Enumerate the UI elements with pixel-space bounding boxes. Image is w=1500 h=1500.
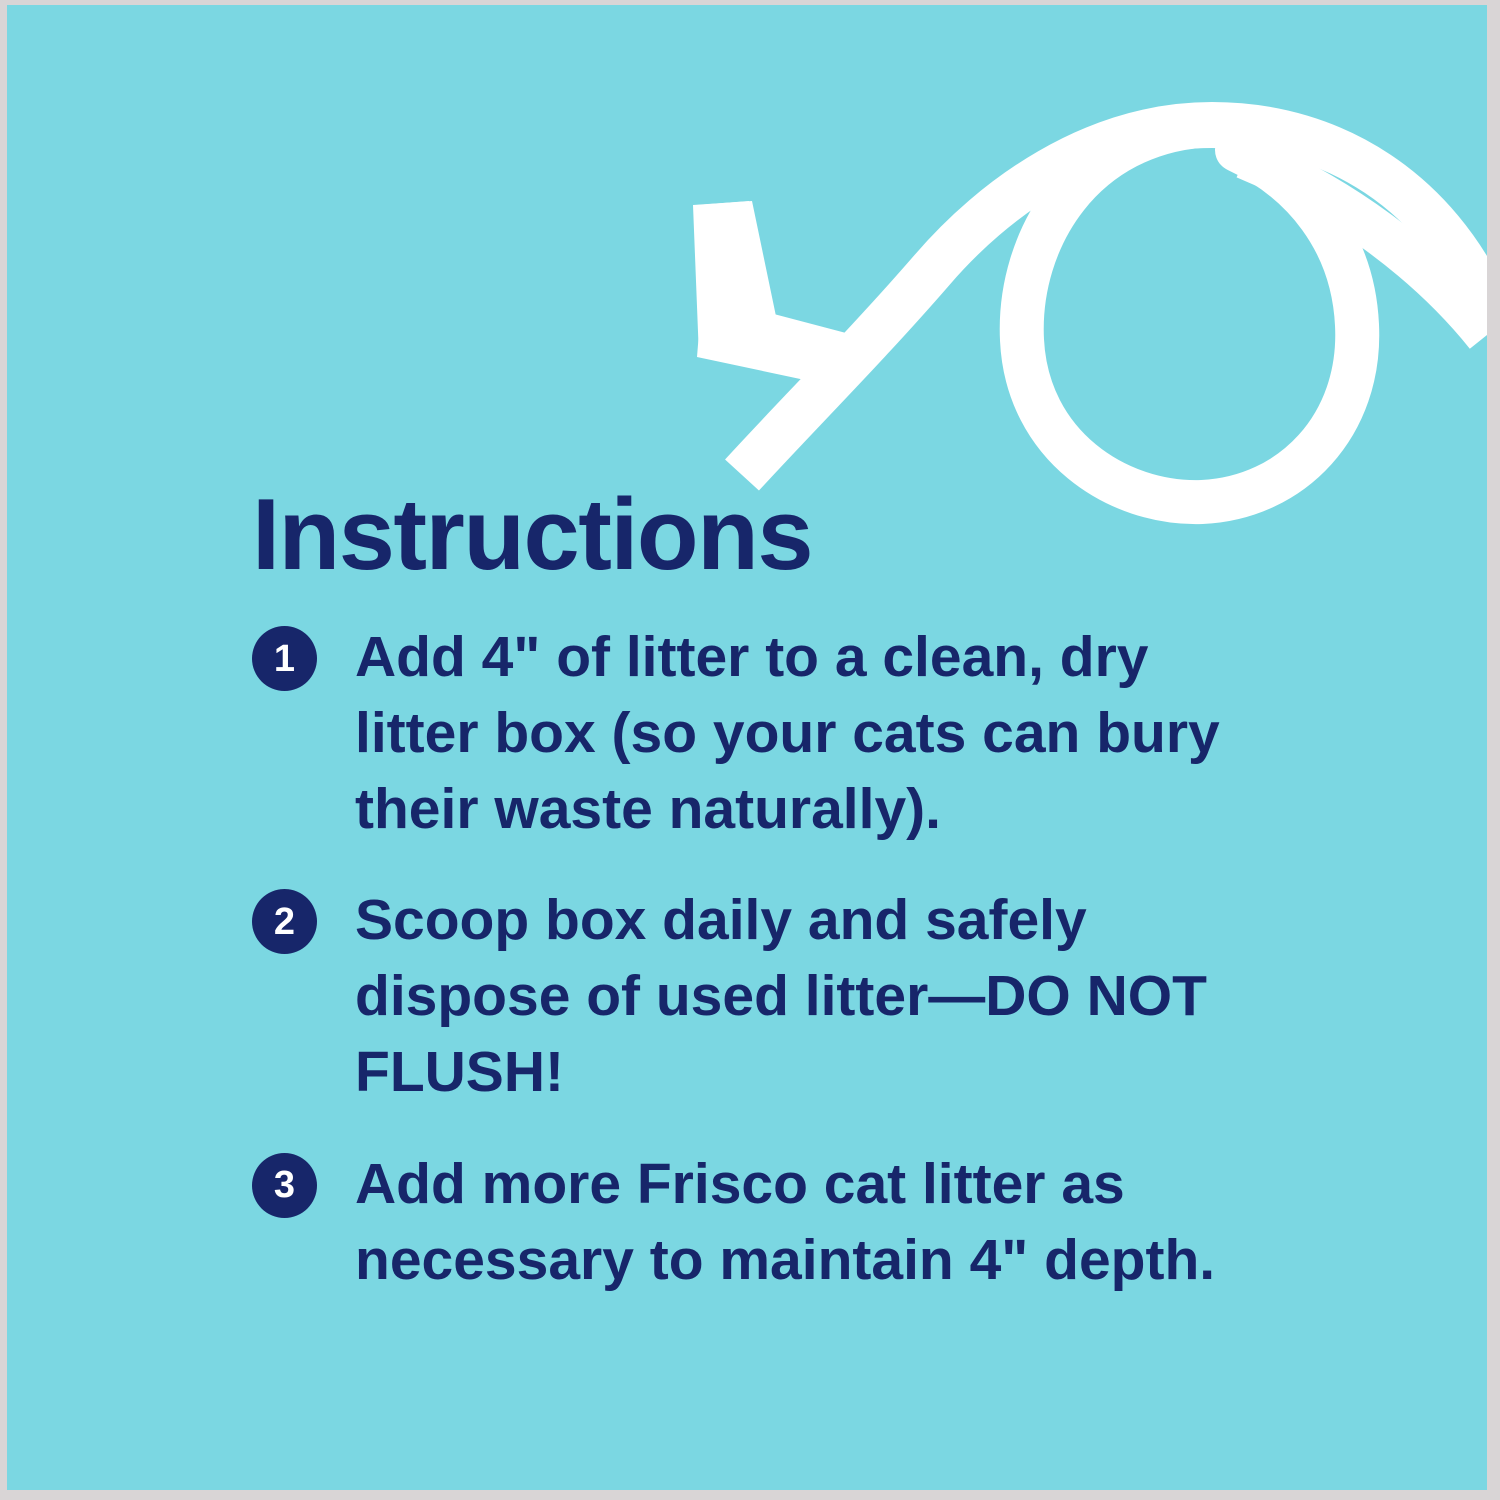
- step-text: Add 4" of litter to a clean, dry litter …: [355, 620, 1275, 847]
- list-item: 1 Add 4" of litter to a clean, dry litte…: [252, 620, 1312, 847]
- instruction-steps-list: 1 Add 4" of litter to a clean, dry litte…: [252, 620, 1312, 1298]
- product-instructions-card: Instructions 1 Add 4" of litter to a cle…: [0, 0, 1500, 1500]
- page-title: Instructions: [252, 485, 1312, 586]
- step-text-lead: Add 4" of litter to a clean, dry litter …: [355, 625, 1220, 841]
- list-item: 3 Add more Frisco cat litter as necessar…: [252, 1147, 1312, 1299]
- step-text-lead: Scoop box daily and safely dispose of us…: [355, 888, 1087, 1028]
- teal-panel: Instructions 1 Add 4" of litter to a cle…: [7, 5, 1487, 1490]
- step-text: Scoop box daily and safely dispose of us…: [355, 883, 1275, 1110]
- step-number-badge: 3: [252, 1153, 317, 1218]
- step-number-badge: 2: [252, 889, 317, 954]
- step-text: Add more Frisco cat litter as necessary …: [355, 1147, 1275, 1299]
- instructions-content: Instructions 1 Add 4" of litter to a cle…: [252, 485, 1312, 1298]
- list-item: 2 Scoop box daily and safely dispose of …: [252, 883, 1312, 1110]
- step-number-badge: 1: [252, 626, 317, 691]
- step-text-lead: Add more Frisco cat litter as necessary …: [355, 1152, 1215, 1292]
